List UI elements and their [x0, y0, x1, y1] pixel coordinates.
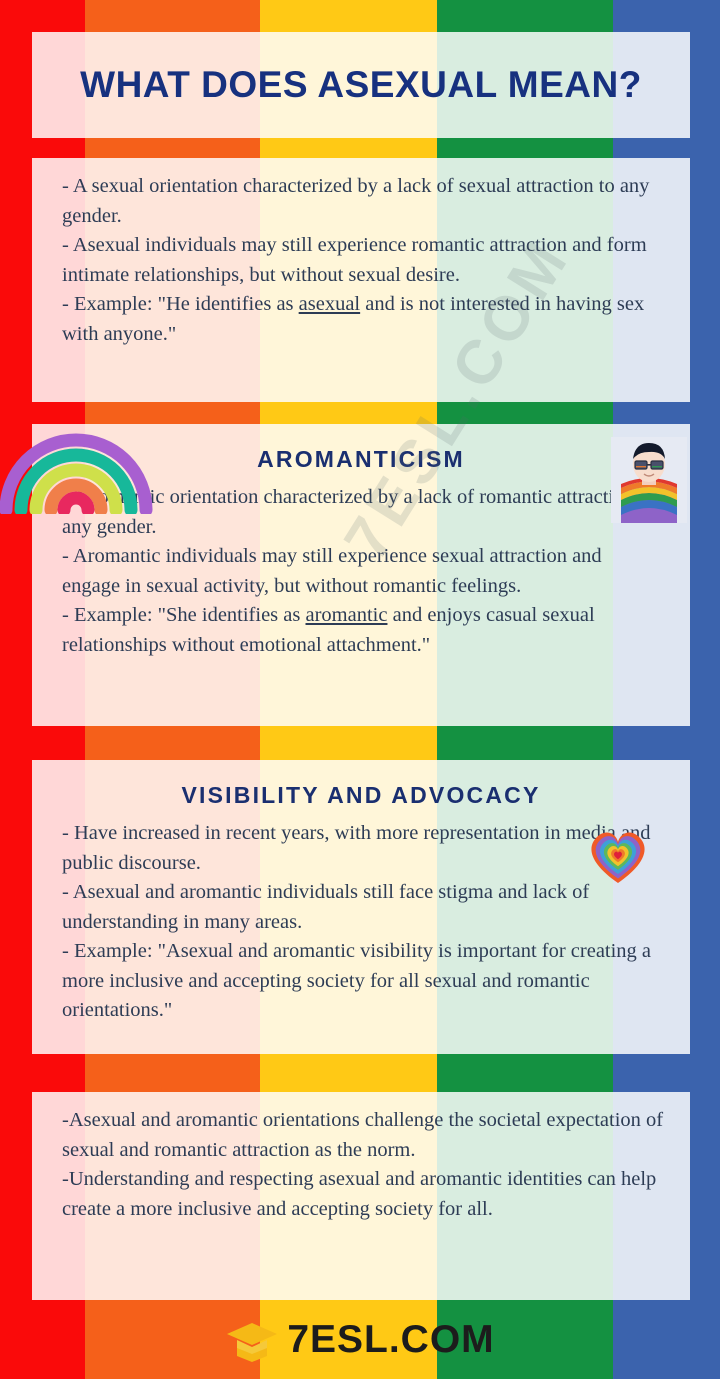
footer-brand: 7ESL.COM: [0, 1300, 720, 1379]
section-visibility-heading: VISIBILITY AND ADVOCACY: [32, 760, 690, 813]
section-definition-panel: - A sexual orientation characterized by …: [32, 158, 690, 402]
rainbow-arc-icon: [0, 416, 158, 514]
aromanticism-line-3: - Example: "She identifies as aromantic …: [62, 601, 664, 660]
summary-line-2: -Understanding and respecting asexual an…: [62, 1165, 664, 1224]
person-avatar-icon: [611, 437, 687, 523]
graduation-cap-icon: [225, 1318, 279, 1362]
definition-line-1: - A sexual orientation characterized by …: [62, 172, 664, 231]
visibility-line-1: - Have increased in recent years, with m…: [62, 819, 664, 878]
definition-line-2: - Asexual individuals may still experien…: [62, 231, 664, 290]
visibility-line-3: - Example: "Asexual and aromantic visibi…: [62, 937, 664, 1026]
section-visibility-panel: VISIBILITY AND ADVOCACY - Have increased…: [32, 760, 690, 1054]
section-summary-panel: -Asexual and aromantic orientations chal…: [32, 1092, 690, 1300]
section-summary-text: -Asexual and aromantic orientations chal…: [32, 1092, 690, 1234]
aromanticism-line-2: - Aromantic individuals may still experi…: [62, 542, 664, 601]
rainbow-heart-icon: [578, 815, 658, 891]
visibility-line-2: - Asexual and aromantic individuals stil…: [62, 878, 664, 937]
page-title: WHAT DOES ASEXUAL MEAN?: [32, 32, 690, 138]
title-panel: WHAT DOES ASEXUAL MEAN?: [32, 32, 690, 138]
definition-emphasis-asexual: asexual: [299, 293, 360, 315]
definition-example-prefix: - Example: "He identifies as: [62, 293, 299, 315]
infographic-poster: 7ESL.COM WHAT DOES ASEXUAL MEAN? - A sex…: [0, 0, 720, 1379]
section-definition-text: - A sexual orientation characterized by …: [32, 158, 690, 359]
aromanticism-emphasis-aromantic: aromantic: [306, 604, 388, 626]
aromanticism-example-prefix: - Example: "She identifies as: [62, 604, 306, 626]
summary-line-1: -Asexual and aromantic orientations chal…: [62, 1106, 664, 1165]
brand-text: 7ESL.COM: [287, 1320, 494, 1359]
definition-line-3: - Example: "He identifies as asexual and…: [62, 290, 664, 349]
